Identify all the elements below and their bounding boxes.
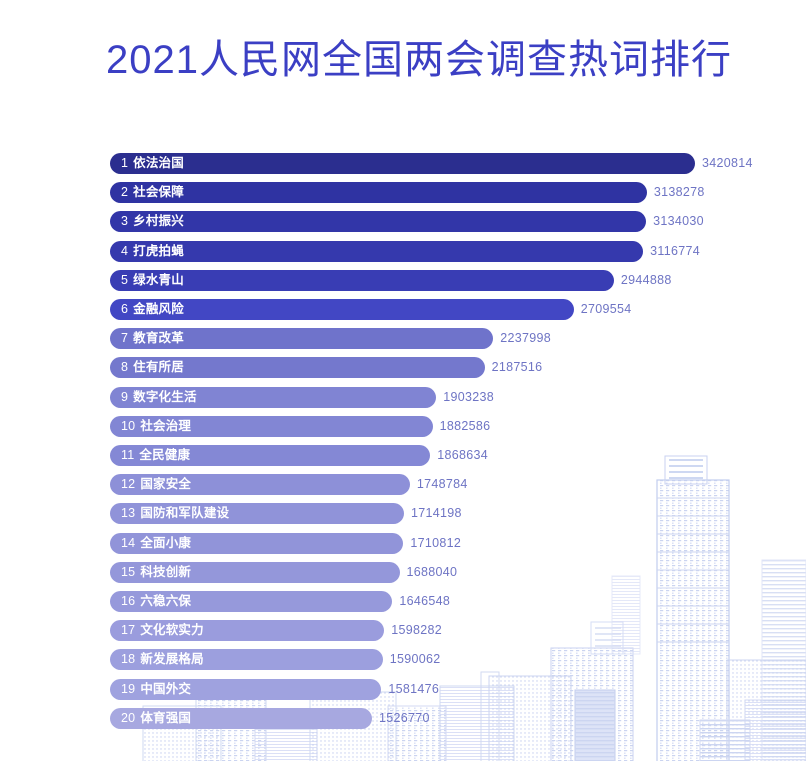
bar-rank: 1 (121, 156, 128, 170)
bar-category-label: 10社会治理 (121, 416, 191, 437)
bar-rank: 20 (121, 711, 135, 725)
bar-category-label: 20体育强国 (121, 708, 191, 729)
bar-rank: 10 (121, 419, 135, 433)
bar-value-label: 1581476 (388, 679, 439, 700)
bar-value-label: 1646548 (399, 591, 450, 612)
bar-rank: 9 (121, 390, 128, 404)
bar-rank: 19 (121, 682, 135, 696)
hot-words-ranking-bar-chart: 1依法治国34208142社会保障31382783乡村振兴31340304打虎拍… (0, 0, 806, 761)
bar-value-label: 3116774 (650, 241, 700, 262)
bar-category-name: 住有所居 (133, 360, 184, 374)
bar-rank: 14 (121, 536, 135, 550)
bar-rank: 7 (121, 331, 128, 345)
bar-category-name: 国防和军队建设 (140, 506, 229, 520)
bar-category-label: 5绿水青山 (121, 270, 184, 291)
bar-category-label: 7教育改革 (121, 328, 184, 349)
bar-category-name: 六稳六保 (140, 594, 191, 608)
bar-rank: 17 (121, 623, 135, 637)
bar-rank: 6 (121, 302, 128, 316)
bar-rank: 2 (121, 185, 128, 199)
bar-category-name: 全民健康 (139, 448, 190, 462)
bar-rank: 13 (121, 506, 135, 520)
bar-category-name: 社会保障 (133, 185, 184, 199)
bar-category-name: 乡村振兴 (133, 214, 184, 228)
bar-value-label: 1590062 (390, 649, 441, 670)
bar-category-name: 教育改革 (133, 331, 184, 345)
bar-rank: 11 (121, 448, 134, 462)
bar-value-label: 1748784 (417, 474, 468, 495)
bar-category-name: 全面小康 (140, 536, 191, 550)
bar-category-name: 数字化生活 (133, 390, 197, 404)
poster-canvas: 2021人民网全国两会调查热词排行 1依法治国34208142社会保障31382… (0, 0, 806, 761)
bar-value-label: 1688040 (407, 562, 458, 583)
bar-category-name: 科技创新 (140, 565, 191, 579)
bar-category-name: 国家安全 (140, 477, 191, 491)
bar-rank: 3 (121, 214, 128, 228)
bar (110, 182, 647, 203)
bar-rank: 12 (121, 477, 135, 491)
bar-value-label: 1714198 (411, 503, 462, 524)
bar-rank: 8 (121, 360, 128, 374)
bar-category-name: 金融风险 (133, 302, 184, 316)
bar-value-label: 3138278 (654, 182, 705, 203)
bar-value-label: 1526770 (379, 708, 430, 729)
bar-category-label: 2社会保障 (121, 182, 184, 203)
bar-category-label: 4打虎拍蝇 (121, 241, 184, 262)
bar-value-label: 1882586 (440, 416, 491, 437)
bar-category-name: 中国外交 (140, 682, 191, 696)
bar-category-label: 8住有所居 (121, 357, 184, 378)
bar-category-name: 依法治国 (133, 156, 184, 170)
bar-category-name: 文化软实力 (140, 623, 204, 637)
bar-category-label: 6金融风险 (121, 299, 184, 320)
bar-category-name: 新发展格局 (140, 652, 204, 666)
bar-rank: 18 (121, 652, 135, 666)
bar-category-label: 1依法治国 (121, 153, 184, 174)
bar-category-label: 3乡村振兴 (121, 211, 184, 232)
bar-value-label: 1903238 (443, 387, 494, 408)
bar-value-label: 1710812 (410, 533, 461, 554)
bar-value-label: 3420814 (702, 153, 753, 174)
bar-value-label: 3134030 (653, 211, 704, 232)
bar-value-label: 2944888 (621, 270, 672, 291)
bar-category-label: 16六稳六保 (121, 591, 191, 612)
bar-category-label: 15科技创新 (121, 562, 191, 583)
bar-value-label: 2187516 (492, 357, 543, 378)
bar-category-label: 17文化软实力 (121, 620, 204, 641)
bar-category-label: 12国家安全 (121, 474, 191, 495)
bar-category-name: 绿水青山 (133, 273, 184, 287)
bar (110, 270, 614, 291)
bar-category-name: 体育强国 (140, 711, 191, 725)
bar-value-label: 1868634 (437, 445, 488, 466)
bar (110, 153, 695, 174)
bar (110, 211, 646, 232)
bar-category-name: 打虎拍蝇 (133, 244, 184, 258)
bar-category-label: 19中国外交 (121, 679, 191, 700)
bar-rank: 15 (121, 565, 135, 579)
bar-category-label: 13国防和军队建设 (121, 503, 229, 524)
bar-value-label: 1598282 (391, 620, 442, 641)
bar-category-label: 9数字化生活 (121, 387, 197, 408)
bar (110, 241, 643, 262)
bar-rank: 16 (121, 594, 135, 608)
bar-category-name: 社会治理 (140, 419, 191, 433)
page-title: 2021人民网全国两会调查热词排行 (106, 36, 732, 84)
bar-category-label: 18新发展格局 (121, 649, 204, 670)
bar-value-label: 2237998 (500, 328, 551, 349)
bar-rank: 4 (121, 244, 128, 258)
bar-category-label: 14全面小康 (121, 533, 191, 554)
bar-category-label: 11全民健康 (121, 445, 190, 466)
bar-value-label: 2709554 (581, 299, 632, 320)
bar-rank: 5 (121, 273, 128, 287)
